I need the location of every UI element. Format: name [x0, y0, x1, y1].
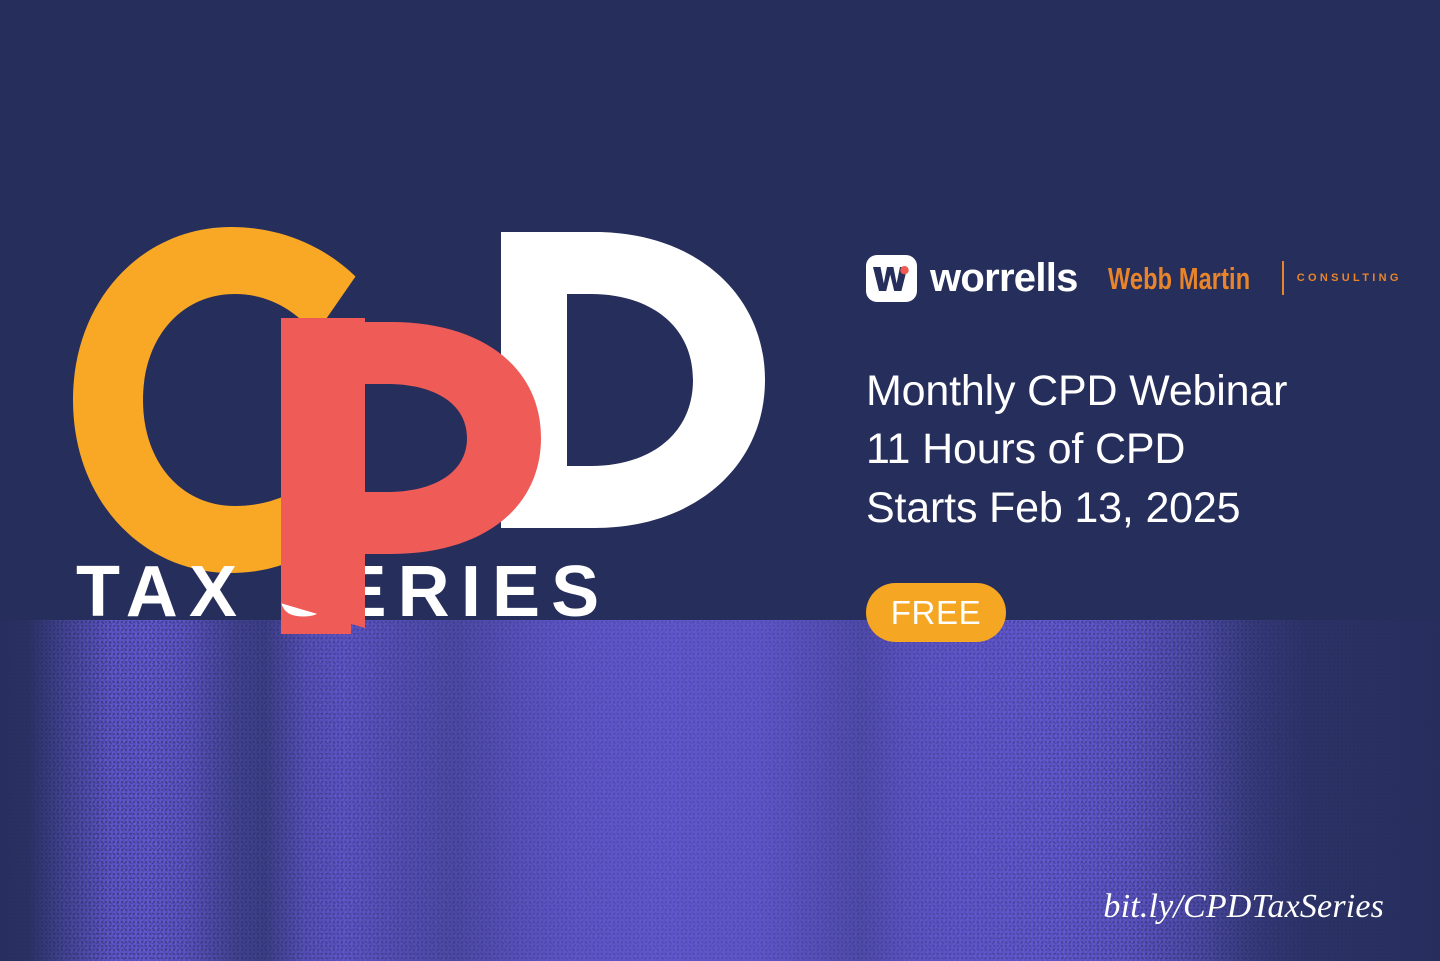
brand-lockup-row: worrells Webb Martin CONSULTING: [866, 252, 1386, 304]
headline-block: Monthly CPD Webinar 11 Hours of CPD Star…: [866, 362, 1386, 537]
free-badge: FREE: [866, 583, 1006, 642]
logo-letter-d: [501, 232, 765, 528]
headline-line-3: Starts Feb 13, 2025: [866, 479, 1386, 537]
headline-line-1: Monthly CPD Webinar: [866, 362, 1386, 420]
promo-banner: TAX SERIES worrells Webb Martin CONSULTI…: [0, 0, 1440, 961]
worrells-logo[interactable]: worrells: [866, 255, 1078, 302]
worrells-mark-tile: [866, 255, 917, 302]
worrells-w-icon: [873, 266, 910, 291]
headline-line-2: 11 Hours of CPD: [866, 420, 1386, 478]
webb-martin-logo[interactable]: Webb Martin CONSULTING: [1108, 261, 1402, 295]
logo-letter-p-stem-overlay: [281, 318, 365, 628]
webb-martin-tagline: CONSULTING: [1297, 273, 1402, 284]
short-link[interactable]: bit.ly/CPDTaxSeries: [1103, 888, 1384, 926]
webb-martin-divider: [1282, 261, 1284, 295]
info-column: worrells Webb Martin CONSULTING Monthly …: [866, 252, 1386, 537]
worrells-dot-icon: [900, 266, 908, 274]
tax-series-wordmark: TAX SERIES: [76, 556, 776, 628]
webb-martin-wordmark: Webb Martin: [1108, 263, 1250, 294]
worrells-wordmark: worrells: [930, 258, 1078, 298]
